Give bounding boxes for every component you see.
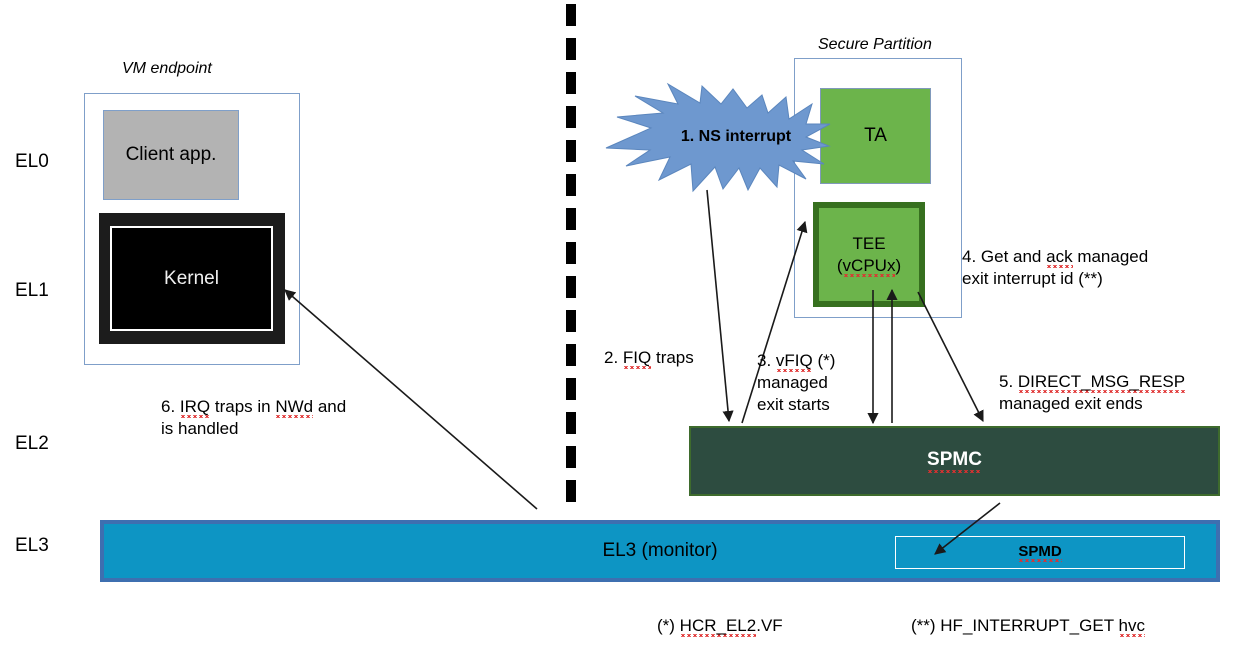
arrow-fiq-traps: [707, 190, 729, 421]
tee-box: TEE (vCPUx): [813, 202, 925, 307]
world-divider-dash: [566, 480, 576, 502]
footnote-one-marker: (*): [657, 616, 680, 635]
row-label-el0: EL0: [15, 152, 49, 171]
world-divider-dash: [566, 72, 576, 94]
world-divider: [566, 4, 576, 516]
tee-vcpu-label: (vCPUx): [837, 255, 901, 276]
step-2-note: 2. FIQ traps: [604, 347, 694, 369]
step-3-note: 3. vFIQ (*) managed exit starts: [757, 350, 872, 415]
step-6-flagged: IRQ: [180, 397, 210, 418]
world-divider-dash: [566, 38, 576, 60]
world-divider-dash: [566, 344, 576, 366]
row-label-el3: EL3: [15, 536, 49, 555]
client-app-box: Client app.: [103, 110, 239, 200]
vm-endpoint-title: VM endpoint: [122, 60, 212, 78]
world-divider-dash: [566, 276, 576, 298]
step-4-flagged: ack: [1046, 247, 1072, 268]
step-6-middle: traps in: [210, 397, 275, 416]
spmc-label: SPMC: [927, 449, 982, 473]
world-divider-dash: [566, 242, 576, 264]
ta-box: TA: [820, 88, 931, 184]
world-divider-dash: [566, 412, 576, 434]
footnote-two-text: HF_INTERRUPT_GET: [940, 616, 1118, 635]
tee-label: TEE: [852, 233, 885, 254]
client-app-label: Client app.: [126, 144, 217, 166]
diagram-canvas: EL0 EL1 EL2 EL3 VM endpoint Client app. …: [0, 0, 1235, 649]
spmc-bar: SPMC: [689, 426, 1220, 496]
spmd-label: SPMD: [1018, 543, 1061, 562]
step-6-flagged-2: NWd: [275, 397, 313, 418]
ns-interrupt-label: 1. NS interrupt: [663, 128, 809, 146]
world-divider-dash: [566, 4, 576, 26]
step-5-suffix: managed exit ends: [999, 394, 1143, 413]
step-5-flagged: DIRECT_MSG_RESP: [1018, 372, 1185, 393]
step-4-note: 4. Get and ack managed exit interrupt id…: [962, 246, 1202, 290]
world-divider-dash: [566, 140, 576, 162]
step-5-prefix: 5.: [999, 372, 1018, 391]
step-2-flagged: FIQ: [623, 348, 651, 369]
world-divider-dash: [566, 446, 576, 468]
footnote-two-flagged: hvc: [1119, 616, 1145, 637]
step-4-prefix: 4. Get and: [962, 247, 1046, 266]
step-5-note: 5. DIRECT_MSG_RESP managed exit ends: [999, 371, 1234, 415]
row-label-el2: EL2: [15, 434, 49, 453]
secure-partition-title: Secure Partition: [818, 36, 932, 54]
step-2-suffix: traps: [651, 348, 694, 367]
kernel-box: Kernel: [110, 226, 273, 331]
step-2-prefix: 2.: [604, 348, 623, 367]
kernel-label: Kernel: [164, 268, 219, 290]
step-3-prefix: 3.: [757, 351, 776, 370]
footnote-two-marker: (**): [911, 616, 940, 635]
world-divider-dash: [566, 208, 576, 230]
step-6-note: 6. IRQ traps in NWd and is handled: [161, 396, 411, 440]
ta-label: TA: [864, 125, 887, 147]
footnote-one-suffix: .VF: [756, 616, 782, 635]
footnote-one: (*) HCR_EL2.VF: [657, 616, 783, 636]
row-label-el1: EL1: [15, 281, 49, 300]
spmd-box: SPMD: [895, 536, 1185, 569]
world-divider-dash: [566, 106, 576, 128]
step-6-prefix: 6.: [161, 397, 180, 416]
footnote-two: (**) HF_INTERRUPT_GET hvc: [911, 616, 1145, 636]
world-divider-dash: [566, 378, 576, 400]
footnote-one-flagged: HCR_EL2: [680, 616, 757, 637]
world-divider-dash: [566, 310, 576, 332]
world-divider-dash: [566, 174, 576, 196]
el3-monitor-bar: EL3 (monitor) SPMD: [100, 520, 1220, 582]
tee-vcpu-word: vCPUx: [843, 256, 896, 277]
step-3-flagged: vFIQ: [776, 351, 813, 372]
